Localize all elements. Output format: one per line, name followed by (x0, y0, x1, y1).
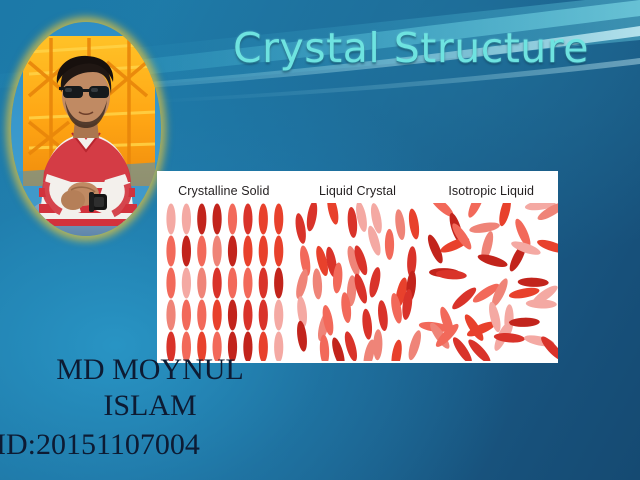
molecule-rod (526, 299, 557, 309)
molecule-rod (228, 204, 237, 235)
molecule-rod (197, 300, 206, 331)
molecule-rod (228, 268, 237, 299)
page-title: Crystal Structure (196, 24, 626, 72)
panel-label-crystalline-solid: Crystalline Solid (157, 184, 291, 202)
portrait-photo (11, 22, 161, 236)
molecule-rod (274, 204, 283, 235)
molecule-rod (243, 204, 252, 235)
author-name-line1: MD MOYNUL (0, 352, 300, 388)
molecule-rod (259, 300, 268, 331)
molecule-rod (243, 300, 252, 331)
presentation-slide: Crystal Structure Crystalline Solid Liqu… (0, 0, 640, 480)
molecule-rod (497, 203, 513, 227)
author-name: MD MOYNUL ISLAM (0, 352, 300, 424)
molecule-rod (213, 236, 222, 267)
molecule-rod (312, 268, 323, 300)
avatar (11, 22, 161, 236)
molecule-rod (166, 236, 175, 267)
molecule-rod (243, 236, 252, 267)
molecule-rod (243, 268, 252, 299)
molecule-rod (166, 300, 175, 331)
molecule-rod (228, 236, 237, 267)
molecule-rod (295, 320, 308, 352)
portrait-container (11, 22, 161, 236)
molecule-rod (274, 300, 283, 331)
author-student-id: ID:20151107004 (0, 428, 326, 462)
author-name-line2: ISLAM (0, 388, 300, 424)
molecule-rod (325, 203, 341, 226)
panel-label-liquid-crystal: Liquid Crystal (291, 184, 425, 202)
molecule-rod (476, 252, 508, 270)
molecule-rod (538, 334, 558, 361)
molecule-rod (390, 339, 404, 361)
molecule-rod (182, 300, 191, 331)
molecule-rod (406, 329, 424, 361)
molecule-rod (342, 330, 359, 361)
molecule-rod (465, 203, 487, 219)
molecule-rod (469, 221, 501, 235)
molecule-rod (377, 300, 390, 332)
molecule-rod (213, 268, 222, 299)
molecule-rod (294, 212, 308, 244)
molecule-rod (166, 204, 175, 235)
molecule-rod (394, 209, 407, 241)
molecule-rod (518, 277, 549, 287)
molecule-rod (197, 236, 206, 267)
molecule-rod (305, 203, 319, 232)
molecule-rod (259, 204, 268, 235)
molecule-rod (367, 266, 382, 298)
molecule-rod (259, 236, 268, 267)
molecule-rod (259, 268, 268, 299)
molecule-rod (385, 229, 394, 260)
molecule-arrangement-illustration (157, 203, 558, 361)
crystal-structure-diagram: Crystalline Solid Liquid Crystal Isotrop… (157, 171, 558, 363)
molecule-rod (182, 236, 191, 267)
molecule-rod (166, 268, 175, 299)
molecule-rod (197, 268, 206, 299)
molecule-rod (182, 268, 191, 299)
diagram-panel-labels: Crystalline Solid Liquid Crystal Isotrop… (157, 184, 558, 202)
molecule-rod (213, 300, 222, 331)
molecule-rod (228, 300, 237, 331)
molecule-rod (197, 204, 206, 235)
molecule-rod (407, 208, 421, 240)
molecule-rod (373, 329, 383, 360)
molecule-rod (274, 268, 283, 299)
molecule-rod (361, 308, 373, 340)
panel-label-isotropic-liquid: Isotropic Liquid (424, 184, 558, 202)
molecule-rod (213, 204, 222, 235)
molecule-rod (330, 336, 348, 361)
molecule-rod (182, 204, 191, 235)
molecule-rod (274, 236, 283, 267)
